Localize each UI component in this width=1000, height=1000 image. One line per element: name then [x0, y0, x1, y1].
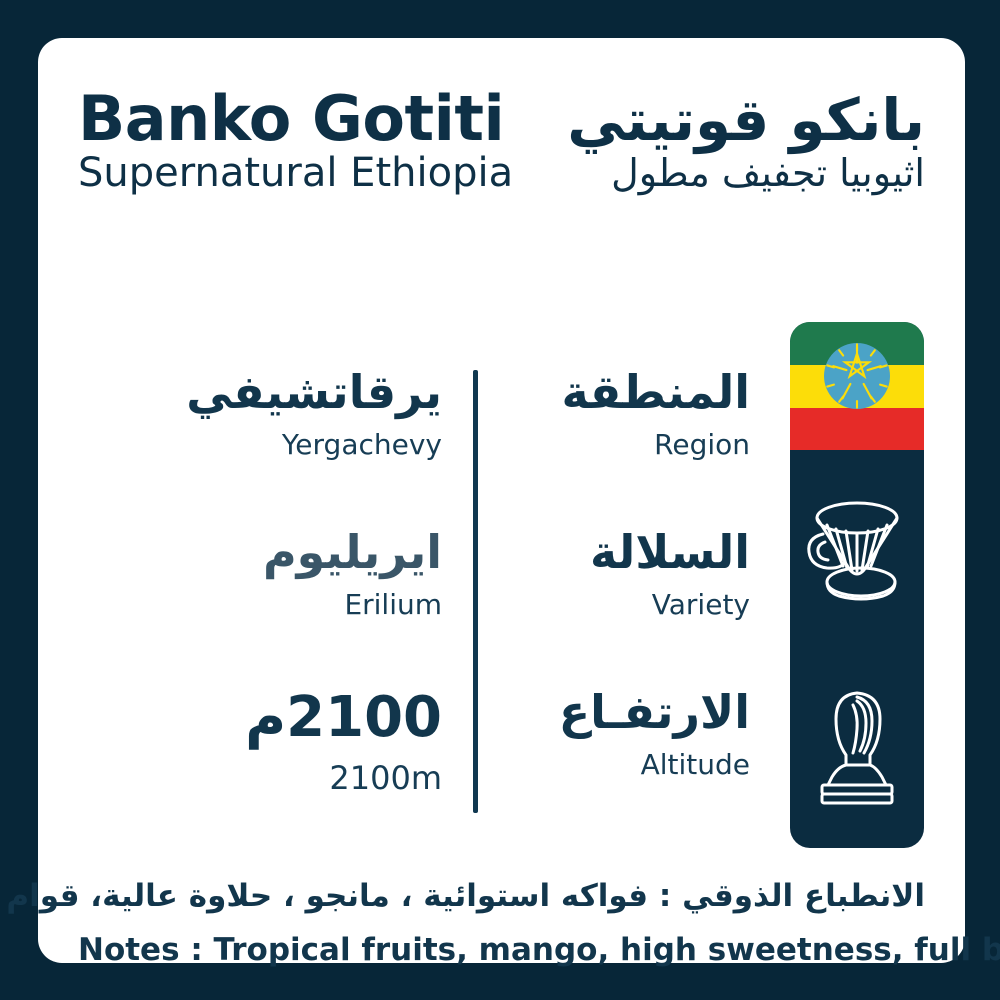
spec-label-ar: الارتفـاع	[482, 686, 750, 739]
coffee-name-en: Banko Gotiti	[78, 86, 504, 151]
coffee-name-ar: بانكو قوتيتي	[567, 90, 925, 151]
spec-label-ar: المنطقة	[482, 366, 750, 419]
espresso-tamper-icon	[808, 685, 906, 813]
ethiopia-flag-icon	[790, 322, 924, 450]
coffee-label: Banko Gotiti بانكو قوتيتي Supernatural E…	[0, 0, 1000, 1000]
label-card: Banko Gotiti بانكو قوتيتي Supernatural E…	[38, 38, 965, 963]
title-row: Banko Gotiti بانكو قوتيتي	[78, 86, 925, 151]
spec-table: يرقاتشيفي Yergachevy المنطقة Region ايري…	[116, 338, 750, 828]
label-header: Banko Gotiti بانكو قوتيتي Supernatural E…	[78, 86, 925, 195]
icon-panel	[790, 322, 924, 848]
spec-value-ar: ايريليوم	[116, 526, 442, 579]
tasting-notes-ar: الانطباع الذوقي : فواكه استوائية ، مانجو…	[78, 876, 925, 918]
pour-over-dripper-icon	[805, 492, 909, 608]
spec-value-altitude: 2100م 2100m	[116, 686, 446, 836]
dripper-icon-slot	[790, 450, 924, 650]
flag-band-red	[790, 408, 924, 450]
spec-label-en: Region	[482, 429, 750, 461]
spec-label-region: المنطقة Region	[482, 366, 750, 516]
spec-label-ar: السلالة	[482, 526, 750, 579]
tamper-icon-slot	[790, 650, 924, 848]
spec-row-region: يرقاتشيفي Yergachevy المنطقة Region	[116, 366, 750, 516]
subtitle-row: Supernatural Ethiopia اثيوبيا تجفيف مطول	[78, 151, 925, 195]
flag-star-icon	[824, 343, 890, 409]
process-origin-en: Supernatural Ethiopia	[78, 151, 513, 195]
spec-label-variety: السلالة Variety	[482, 526, 750, 676]
spec-value-ar: يرقاتشيفي	[116, 366, 442, 419]
spec-value-variety: ايريليوم Erilium	[116, 526, 446, 676]
spec-value-en: 2100m	[116, 760, 442, 797]
spec-label-en: Variety	[482, 589, 750, 621]
process-origin-ar: اثيوبيا تجفيف مطول	[611, 153, 925, 195]
spec-label-altitude: الارتفـاع Altitude	[482, 686, 750, 836]
spec-label-en: Altitude	[482, 749, 750, 781]
spec-value-region: يرقاتشيفي Yergachevy	[116, 366, 446, 516]
tasting-notes-en: Notes : Tropical fruits, mango, high swe…	[78, 930, 925, 972]
tasting-notes: الانطباع الذوقي : فواكه استوائية ، مانجو…	[78, 876, 925, 972]
spec-row-altitude: 2100م 2100m الارتفـاع Altitude	[116, 686, 750, 836]
spec-row-variety: ايريليوم Erilium السلالة Variety	[116, 526, 750, 676]
spec-value-ar: 2100م	[116, 686, 442, 750]
spec-value-en: Erilium	[116, 589, 442, 621]
spec-value-en: Yergachevy	[116, 429, 442, 461]
